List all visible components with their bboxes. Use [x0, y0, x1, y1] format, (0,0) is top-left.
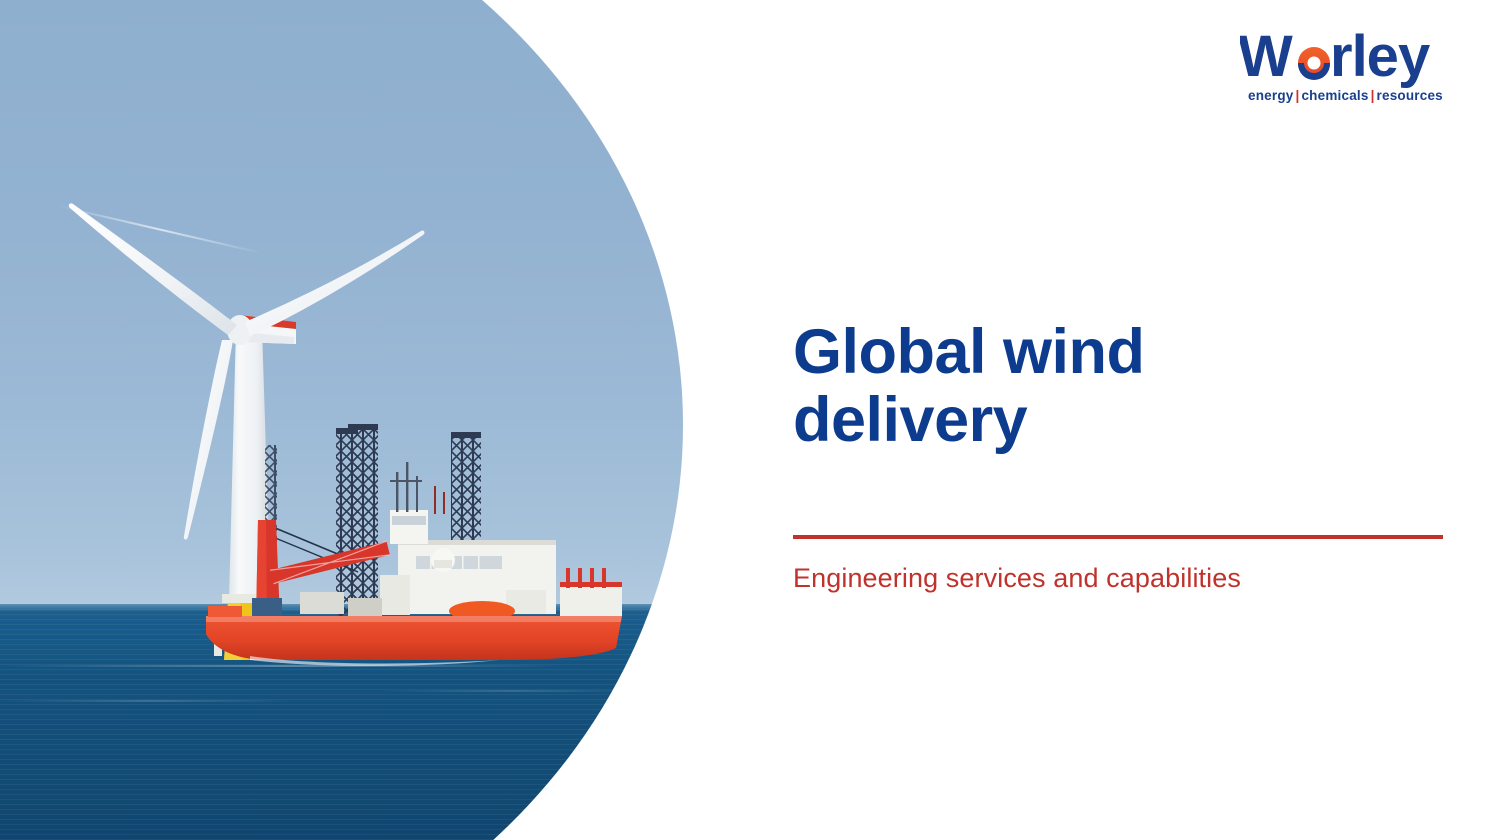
slide-subtitle: Engineering services and capabilities [793, 563, 1241, 594]
deck-equipment-2 [348, 598, 382, 616]
vessel-hull [206, 616, 622, 660]
presentation-slide: W rley energy|chemical [0, 0, 1493, 840]
offshore-wind-photo [0, 0, 690, 840]
jack-up-vessel [0, 0, 690, 840]
bow-section [208, 606, 242, 617]
vessel-bridge [390, 510, 428, 544]
stern-structure [560, 568, 622, 616]
bridge-windows [416, 556, 502, 569]
slide-title-line-1: Global wind [793, 317, 1145, 387]
slide-content: Global winddelivery Engineering services… [793, 0, 1453, 840]
deck-equipment-3 [252, 598, 282, 616]
deck-equipment-1 [300, 592, 344, 614]
slide-title: Global winddelivery [793, 318, 1263, 454]
hero-image-panel [0, 0, 690, 840]
vessel-masts [390, 462, 445, 514]
title-divider [793, 535, 1443, 539]
slide-title-line-2: delivery [793, 385, 1027, 455]
